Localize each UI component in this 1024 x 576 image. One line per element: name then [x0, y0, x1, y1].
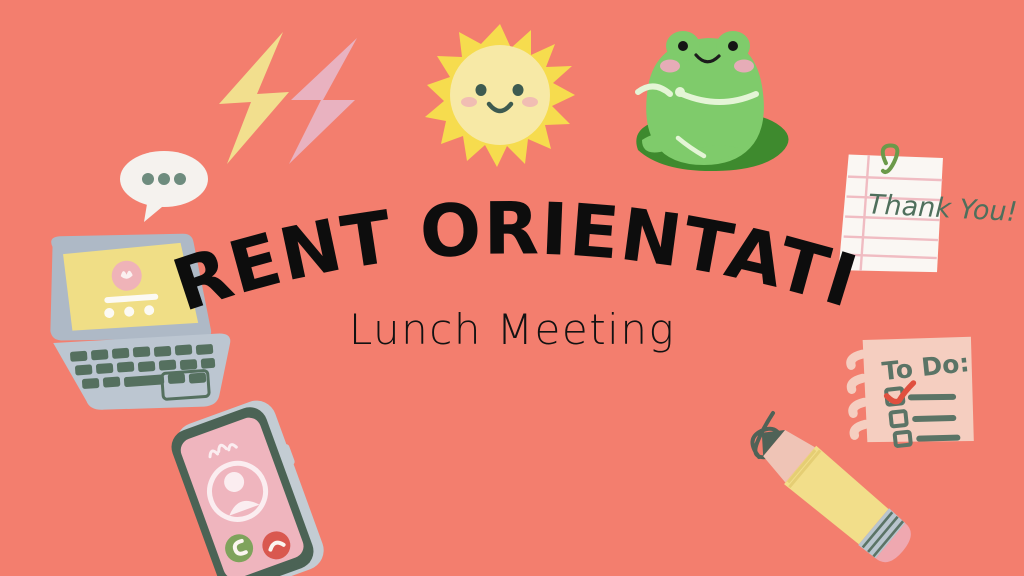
thank-you-note-sticker: Thank You! [820, 140, 960, 285]
page-subtitle: Lunch Meeting [0, 305, 1024, 354]
sticky-note-icon: Thank You! [835, 140, 1024, 291]
sun-icon [425, 24, 575, 167]
phone-incoming-call-icon [165, 394, 331, 576]
sun-sticker [425, 22, 575, 167]
lightning-bolts-sticker [205, 28, 370, 168]
pencil-icon [746, 413, 919, 570]
pencil-sticker [735, 395, 925, 570]
lightning-bolt-icon-yellow [219, 32, 289, 164]
frog-sticker [620, 22, 800, 177]
speech-bubble-sticker [116, 146, 211, 226]
lightning-bolt-icon-pink [289, 38, 357, 164]
poster-canvas: Thank You! To Do: [0, 0, 1024, 576]
phone-sticker [168, 400, 338, 576]
frog-icon [636, 31, 788, 171]
speech-bubble-icon [120, 151, 208, 222]
